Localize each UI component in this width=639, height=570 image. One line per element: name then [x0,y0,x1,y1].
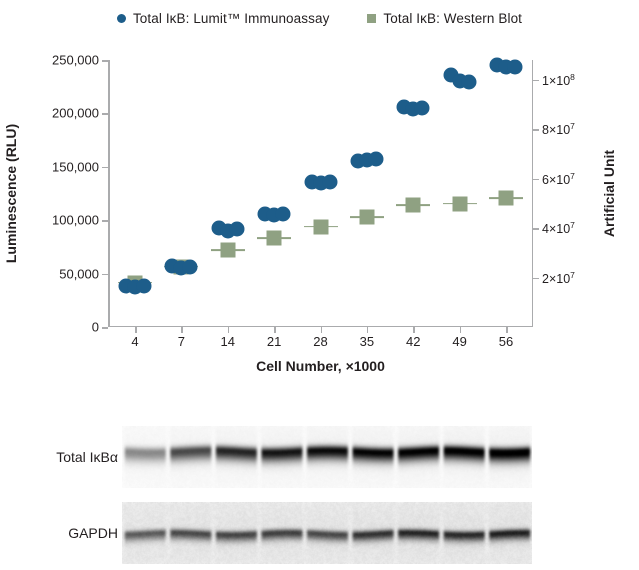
y-axis-left-title: Luminescence (RLU) [2,60,20,327]
y-axis-right-tick-label: 6×107 [542,171,575,187]
scatter-plot: Luminescence (RLU) Artificial Unit Cell … [0,40,639,395]
x-axis-tick-label: 21 [267,334,281,349]
data-point-lumit [461,74,476,89]
circle-icon [117,14,126,23]
data-point-western-blot [406,198,421,213]
blot-row: Total IκBα [0,426,639,488]
x-axis-tick [460,327,462,333]
x-axis-tick [321,327,323,333]
y-axis-left-tick [102,167,108,169]
y-axis-right-tick-label: 2×107 [542,269,575,285]
legend-item-lumit: Total IκB: Lumit™ Immunoassay [117,11,329,26]
y-axis-left-spine [108,60,110,327]
x-axis-tick-label: 7 [178,334,185,349]
western-blot-images: Total IκBαGAPDH [0,420,639,570]
x-axis-tick [506,327,508,333]
x-axis-tick [274,327,276,333]
y-axis-right-tick-label: 4×107 [542,220,575,236]
y-axis-left-tick [102,327,108,329]
data-point-western-blot [499,191,514,206]
blot-label: Total IκBα [56,449,118,465]
legend-item-western: Total IκB: Western Blot [367,11,522,26]
x-axis-tick [413,327,415,333]
x-axis-tick [181,327,183,333]
x-axis-tick [135,327,137,333]
blot-image [122,426,532,488]
x-axis-tick [228,327,230,333]
y-axis-left-tick [102,113,108,115]
y-axis-right-tick-label: 1×108 [542,72,575,88]
data-point-western-blot [267,231,282,246]
data-point-lumit [229,221,244,236]
y-axis-right-tick [533,129,539,131]
data-point-western-blot [220,243,235,258]
blot-row: GAPDH [0,502,639,564]
x-axis-tick-label: 35 [360,334,374,349]
x-axis-tick-label: 49 [452,334,466,349]
y-axis-left-tick-label: 100,000 [52,213,99,228]
plot-area: 050,000100,000150,000200,000250,000 2×10… [108,60,533,327]
legend-label-western: Total IκB: Western Blot [383,11,522,26]
blot-label: GAPDH [68,525,118,541]
x-axis-tick-label: 14 [221,334,235,349]
y-axis-left-tick [102,274,108,276]
y-axis-left-tick-label: 250,000 [52,53,99,68]
x-axis-tick-label: 4 [131,334,138,349]
data-point-lumit [276,207,291,222]
data-point-western-blot [313,219,328,234]
chart-legend: Total IκB: Lumit™ Immunoassay Total IκB:… [0,6,639,30]
x-axis-tick [367,327,369,333]
y-axis-left-tick [102,220,108,222]
legend-label-lumit: Total IκB: Lumit™ Immunoassay [133,11,329,26]
x-axis-title: Cell Number, ×1000 [108,358,533,374]
data-point-lumit [508,59,523,74]
data-point-lumit [368,152,383,167]
y-axis-left-tick [102,60,108,62]
y-axis-right-tick [533,179,539,181]
square-icon [367,14,376,23]
data-point-lumit [183,259,198,274]
y-axis-left-tick-label: 200,000 [52,106,99,121]
data-point-lumit [137,278,152,293]
x-axis-tick-label: 56 [499,334,513,349]
y-axis-left-tick-label: 50,000 [59,266,99,281]
blot-panel [122,502,532,564]
y-axis-right-tick [533,278,539,280]
y-axis-left-tick-label: 0 [92,320,99,335]
y-axis-right-spine [532,60,534,327]
y-axis-right-tick-label: 8×107 [542,121,575,137]
data-point-western-blot [452,196,467,211]
y-axis-left-tick-label: 150,000 [52,159,99,174]
y-axis-right-tick [533,80,539,82]
y-axis-right-tick [533,228,539,230]
x-axis-tick-label: 42 [406,334,420,349]
data-point-lumit [322,175,337,190]
data-point-lumit [415,101,430,116]
blot-panel [122,426,532,488]
x-axis-tick-label: 28 [313,334,327,349]
y-axis-right-title: Artificial Unit [600,60,618,327]
data-point-western-blot [359,209,374,224]
blot-image [122,502,532,564]
